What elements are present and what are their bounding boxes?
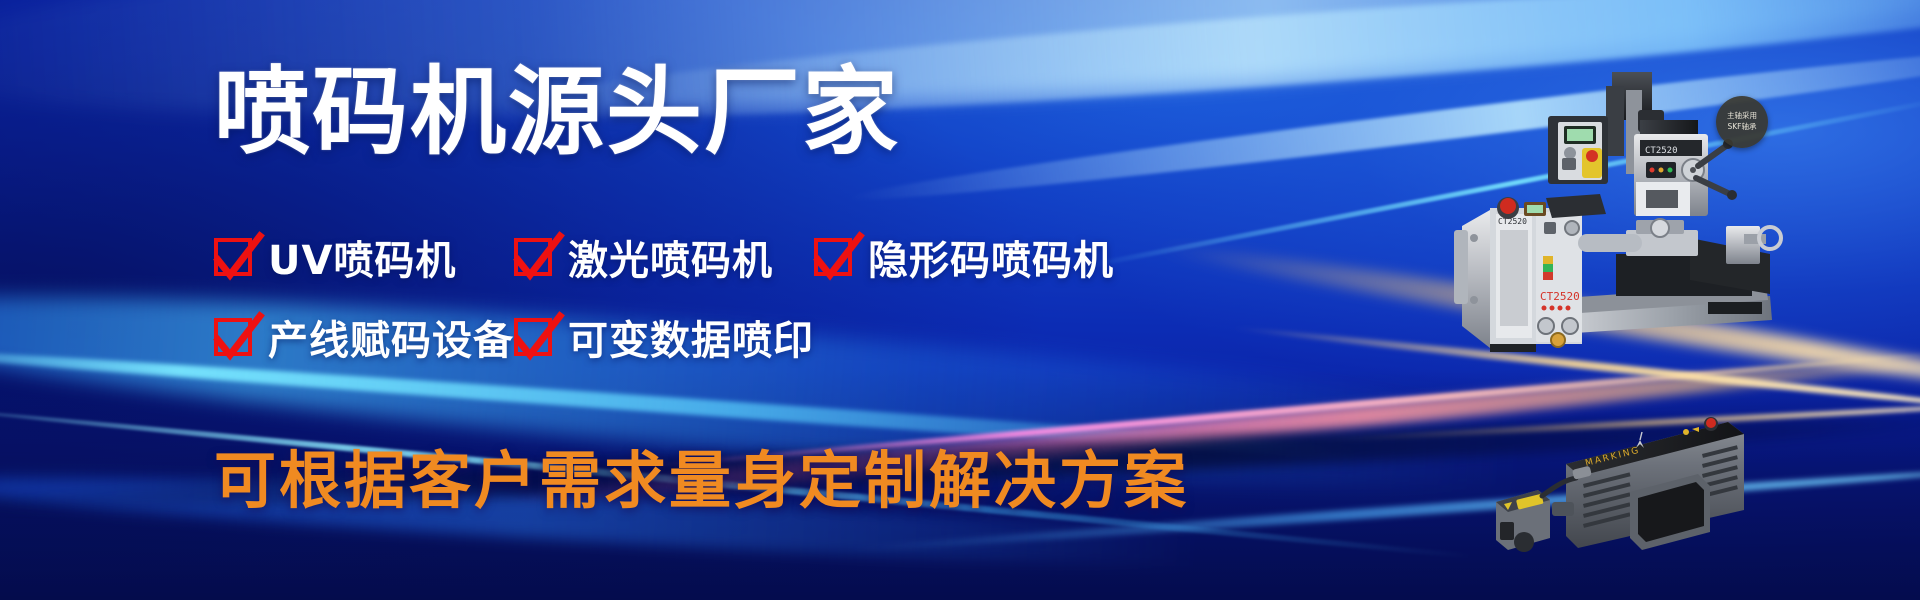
checkbox-checked-icon bbox=[814, 238, 852, 276]
lathe-machine-image: CT2520 bbox=[1440, 58, 1830, 358]
feature-label: 产线赋码设备 bbox=[268, 308, 514, 366]
feature-item-line-coding[interactable]: 产线赋码设备 bbox=[214, 308, 514, 366]
svg-text:CT2520: CT2520 bbox=[1645, 146, 1678, 156]
feature-label: 激光喷码机 bbox=[568, 228, 773, 286]
check-mark-icon bbox=[813, 233, 863, 283]
svg-text:CT2520: CT2520 bbox=[1540, 290, 1580, 303]
feature-row-1: UV喷码机 激光喷码机 隐形码喷 bbox=[214, 228, 1314, 286]
feature-label: UV喷码机 bbox=[268, 228, 456, 286]
feature-label: 隐形码喷码机 bbox=[868, 228, 1114, 286]
tagline: 可根据客户需求量身定制解决方案 bbox=[214, 430, 1189, 520]
promo-banner: 喷码机源头厂家 UV喷码机 bbox=[0, 0, 1920, 600]
check-mark-icon bbox=[213, 313, 263, 363]
checkbox-checked-icon bbox=[514, 318, 552, 356]
feature-item-invisible-code[interactable]: 隐形码喷码机 bbox=[814, 228, 1114, 286]
checkbox-checked-icon bbox=[214, 238, 252, 276]
check-mark-icon bbox=[513, 313, 563, 363]
feature-row-2: 产线赋码设备 可变数据喷印 bbox=[214, 308, 1314, 366]
laser-marker-image: MARKING bbox=[1480, 398, 1780, 568]
svg-text:CT2520: CT2520 bbox=[1498, 217, 1527, 226]
feature-list: UV喷码机 激光喷码机 隐形码喷 bbox=[214, 228, 1314, 366]
check-mark-icon bbox=[513, 233, 563, 283]
badge-line-1: 主轴采用 bbox=[1727, 111, 1757, 122]
page-title: 喷码机源头厂家 bbox=[214, 62, 900, 163]
checkbox-checked-icon bbox=[214, 318, 252, 356]
badge-line-2: SKF轴承 bbox=[1728, 122, 1757, 133]
check-mark-icon bbox=[213, 233, 263, 283]
checkbox-checked-icon bbox=[514, 238, 552, 276]
skf-bearing-badge: 主轴采用 SKF轴承 bbox=[1716, 96, 1768, 148]
feature-item-laser[interactable]: 激光喷码机 bbox=[514, 228, 814, 286]
feature-label: 可变数据喷印 bbox=[568, 308, 814, 366]
feature-item-uv[interactable]: UV喷码机 bbox=[214, 228, 514, 286]
feature-item-variable-data[interactable]: 可变数据喷印 bbox=[514, 308, 814, 366]
